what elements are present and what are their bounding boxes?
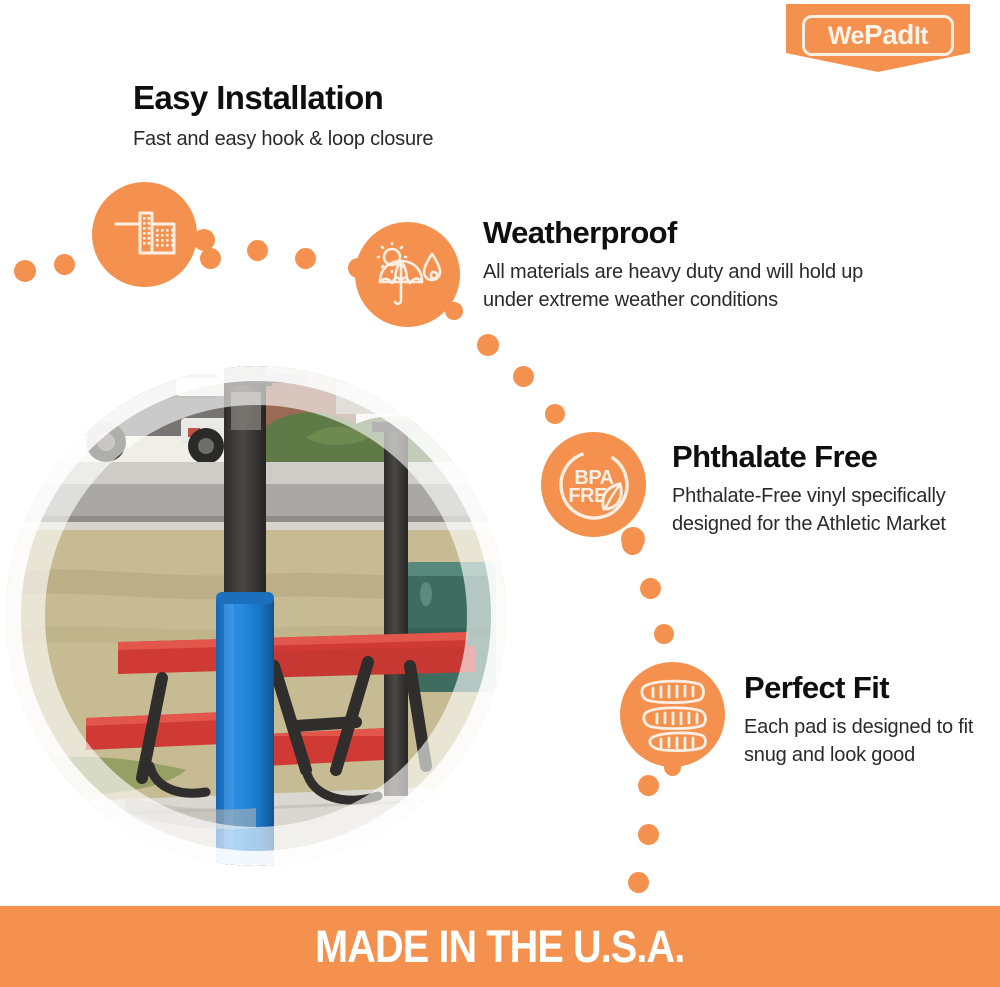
path-dot <box>545 404 565 424</box>
path-dot <box>638 824 659 845</box>
feature-description: Fast and easy hook & loop closure <box>133 125 613 153</box>
feature-description: Phthalate-Free vinyl specifically design… <box>672 482 972 538</box>
product-photo <box>6 366 506 866</box>
path-dot <box>295 248 316 269</box>
logo-text-we: We <box>828 22 864 50</box>
brand-logo[interactable]: WePadIt <box>786 4 970 72</box>
hook-and-loop-icon-badge[interactable] <box>92 182 197 287</box>
feature-block-easy-installation: Easy Installation Fast and easy hook & l… <box>133 78 613 153</box>
logo-text: WePadIt <box>786 21 970 50</box>
feature-description: All materials are heavy duty and will ho… <box>483 258 903 314</box>
made-in-usa-text: MADE IN THE U.S.A. <box>315 923 684 971</box>
product-photo-illustration <box>6 366 506 866</box>
perfect-fit-icon-badge[interactable] <box>620 662 725 767</box>
logo-text-pad: Pad <box>864 19 914 50</box>
weatherproof-icon-badge[interactable] <box>355 222 460 327</box>
hook-and-loop-icon <box>112 207 178 263</box>
made-in-usa-banner: MADE IN THE U.S.A. <box>0 906 1000 987</box>
path-dot <box>477 334 499 356</box>
badge-nub <box>445 302 463 320</box>
umbrella-sun-rain-icon <box>372 242 444 308</box>
badge-nub <box>348 258 368 278</box>
bpa-free-leaf-icon: BPA FREE <box>548 439 640 531</box>
feature-title: Easy Installation <box>133 78 613 118</box>
badge-nub <box>621 527 645 551</box>
feature-description: Each pad is designed to fit snug and loo… <box>744 713 984 769</box>
path-dot <box>200 248 221 269</box>
badge-nub <box>664 759 681 776</box>
path-dot <box>628 872 649 893</box>
badge-nub <box>193 229 215 251</box>
measuring-tape-icon <box>633 676 713 754</box>
feature-block-phthalate-free: Phthalate Free Phthalate-Free vinyl spec… <box>672 438 972 538</box>
path-dot <box>640 578 661 599</box>
feature-title: Phthalate Free <box>672 438 972 476</box>
path-dot <box>654 624 674 644</box>
feature-block-weatherproof: Weatherproof All materials are heavy dut… <box>483 214 903 314</box>
path-dot <box>14 260 36 282</box>
bpa-free-icon-badge[interactable]: BPA FREE <box>541 432 646 537</box>
feature-title: Perfect Fit <box>744 669 984 707</box>
path-dot <box>54 254 75 275</box>
path-dot <box>513 366 534 387</box>
path-dot <box>247 240 268 261</box>
feature-title: Weatherproof <box>483 214 903 252</box>
infographic-canvas: WePadIt Easy Installation Fast and easy … <box>0 0 1000 987</box>
logo-text-it: It <box>914 22 928 50</box>
feature-block-perfect-fit: Perfect Fit Each pad is designed to fit … <box>744 669 984 769</box>
path-dot <box>638 775 659 796</box>
